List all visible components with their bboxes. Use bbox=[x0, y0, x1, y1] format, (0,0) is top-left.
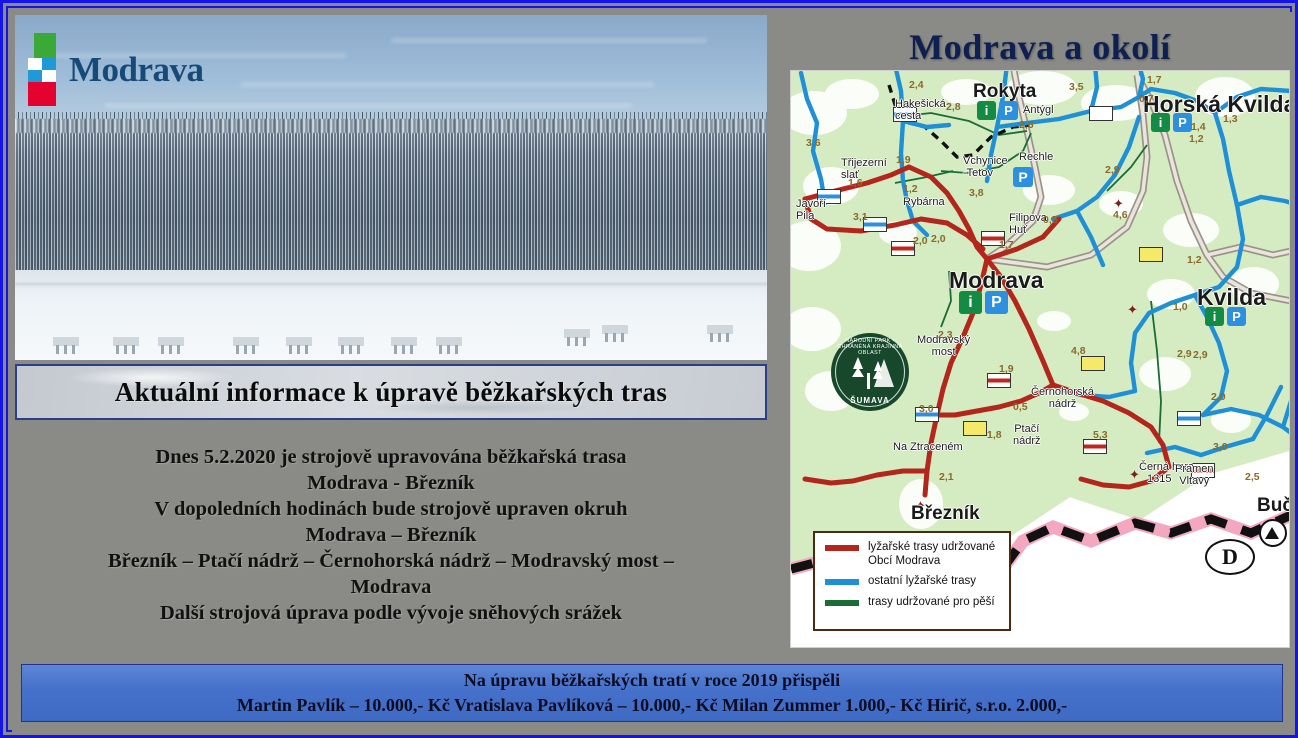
map-distance: 0,5 bbox=[1013, 401, 1028, 413]
announcement-line: Modrava bbox=[351, 574, 432, 600]
map-distance: 2,4 bbox=[909, 79, 924, 91]
map-distance: 1,7 bbox=[1147, 74, 1162, 86]
map-panel[interactable]: NÁRODNÍ PARK • CHRÁNĚNÁ KRAJINNÁ OBLAST … bbox=[790, 70, 1290, 648]
modrava-logo[interactable]: Modrava bbox=[28, 33, 204, 106]
map-distance: 2,0 bbox=[931, 233, 946, 245]
parking-icon[interactable]: P bbox=[1173, 113, 1192, 132]
map-distance: 3,5 bbox=[1069, 81, 1084, 93]
announcement-line: Modrava - Březník bbox=[307, 470, 474, 496]
map-distance: 3,0 bbox=[919, 403, 934, 415]
map-place-label: Rechle bbox=[1019, 151, 1053, 163]
map-distance: 2,8 bbox=[946, 101, 961, 113]
map-town-bucina[interactable]: Bučina bbox=[1257, 495, 1290, 517]
info-parking-horska-kvilda[interactable]: i P bbox=[1151, 113, 1192, 132]
map-distance: 1,2 bbox=[903, 183, 918, 195]
map-place-label: Pramen Vltavy bbox=[1175, 463, 1214, 487]
map-distance: 3,1 bbox=[853, 211, 868, 223]
map-distance: 2,0 bbox=[913, 235, 928, 247]
map-distance: 1,2 bbox=[1189, 133, 1204, 145]
announcement-line: Další strojová úprava podle vývoje sněho… bbox=[160, 600, 622, 626]
legend-row: trasy udržované pro pěší bbox=[825, 596, 1001, 610]
info-parking-rokyta[interactable]: i P bbox=[977, 101, 1018, 120]
map-distance: 1,8 bbox=[987, 429, 1002, 441]
map-place-label: Filipova Huť bbox=[1009, 212, 1047, 236]
parking-icon[interactable]: P bbox=[985, 291, 1008, 314]
logo-mark bbox=[28, 33, 56, 106]
km-sign bbox=[1083, 439, 1107, 454]
map-place-label: Na Ztraceném bbox=[893, 441, 963, 453]
peak-marker: ✦ bbox=[1127, 302, 1138, 318]
legend-row: lyžařské trasy udržované Obcí Modrava bbox=[825, 541, 1001, 568]
shelter-icon bbox=[1259, 519, 1287, 547]
km-sign bbox=[1177, 411, 1201, 426]
map-place-label: Antýgl bbox=[1023, 104, 1054, 116]
map-distance: 0,5 bbox=[1043, 214, 1058, 226]
poster-root: Modrava Aktuální informace k úpravě běžk… bbox=[0, 0, 1298, 738]
map-distance: 1,2 bbox=[1187, 254, 1202, 266]
map-place-label: Černohorská nádrž bbox=[1031, 386, 1094, 410]
map-title: Modrava a okolí bbox=[790, 24, 1290, 70]
map-distance: 1,9 bbox=[999, 363, 1014, 375]
legend-label: trasy udržované pro pěší bbox=[868, 596, 995, 610]
map-distance: 2,9 bbox=[1105, 164, 1120, 176]
sponsors-list: Martin Pavlík – 10.000,- Kč Vratislava P… bbox=[237, 693, 1067, 718]
info-icon[interactable]: i bbox=[977, 101, 996, 120]
sponsors-heading: Na úpravu běžkařských tratí v roce 2019 … bbox=[464, 668, 840, 693]
km-sign bbox=[963, 421, 987, 436]
announcement-line: Modrava – Březník bbox=[306, 522, 477, 548]
legend-row: ostatní lyžařské trasy bbox=[825, 575, 1001, 589]
map-distance: 0,7 bbox=[1139, 93, 1154, 105]
map-place-label: Rybárna bbox=[903, 196, 945, 208]
map-distance: 3,6 bbox=[806, 137, 821, 149]
km-sign bbox=[891, 241, 915, 256]
map-distance: 3,0 bbox=[1213, 441, 1228, 453]
map-distance: 1,4 bbox=[1191, 121, 1206, 133]
map-distance: 2,6 bbox=[1019, 119, 1034, 131]
legend-swatch-green bbox=[825, 600, 859, 606]
map-distance: 1,3 bbox=[1223, 113, 1238, 125]
map-place-label: Hakešická cesta bbox=[895, 98, 946, 122]
map-distance: 2,5 bbox=[1245, 471, 1260, 483]
map-distance: 1,9 bbox=[896, 154, 911, 166]
map-distance: 2,9 bbox=[1193, 349, 1208, 361]
parking-icon[interactable]: P bbox=[1227, 307, 1246, 326]
winter-landscape-photo: Modrava bbox=[15, 15, 767, 360]
announcement-line: Březník – Ptačí nádrž – Černohorská nádr… bbox=[108, 548, 674, 574]
poster-inner: Modrava Aktuální informace k úpravě běžk… bbox=[12, 12, 1292, 732]
km-sign bbox=[1089, 106, 1113, 121]
km-sign bbox=[987, 373, 1011, 388]
map-town-breznik[interactable]: Březník bbox=[911, 503, 980, 525]
info-icon[interactable]: i bbox=[1151, 113, 1170, 132]
map-distance: 3,8 bbox=[969, 187, 984, 199]
parking-icon[interactable]: P bbox=[999, 101, 1018, 120]
map-distance: 4,6 bbox=[1113, 209, 1128, 221]
map-distance: 1,6 bbox=[848, 177, 863, 189]
legend-swatch-red bbox=[825, 545, 859, 551]
logo-wordmark: Modrava bbox=[69, 50, 204, 90]
photo-snowfield bbox=[15, 270, 767, 360]
parking-icon-rechle[interactable]: P bbox=[1013, 167, 1033, 187]
map-distance: 2,9 bbox=[1177, 348, 1192, 360]
map-distance: 2,0 bbox=[1211, 391, 1226, 403]
sumava-national-park-logo: NÁRODNÍ PARK • CHRÁNĚNÁ KRAJINNÁ OBLAST … bbox=[831, 333, 909, 411]
map-distance: 1,0 bbox=[1173, 301, 1188, 313]
map-legend: lyžařské trasy udržované Obcí Modrava os… bbox=[813, 531, 1011, 631]
map-distance: 4,8 bbox=[1071, 345, 1086, 357]
info-icon[interactable]: i bbox=[959, 291, 982, 314]
map-place-label: Vchynice -Tetov bbox=[963, 155, 1008, 179]
info-parking-kvilda[interactable]: i P bbox=[1205, 307, 1246, 326]
map-place-label: Ptačí nádrž bbox=[1013, 423, 1041, 447]
map-title-text: Modrava a okolí bbox=[909, 26, 1171, 68]
sponsors-footer: Na úpravu běžkařských tratí v roce 2019 … bbox=[21, 664, 1283, 722]
country-marker-d: D bbox=[1205, 539, 1255, 575]
km-sign bbox=[1139, 247, 1163, 262]
km-sign bbox=[1081, 356, 1105, 371]
headline-banner: Aktuální informace k úpravě běžkařských … bbox=[15, 364, 767, 420]
info-parking-modrava[interactable]: i P bbox=[959, 291, 1008, 314]
map-distance: 2,1 bbox=[939, 471, 954, 483]
legend-label: lyžařské trasy udržované Obcí Modrava bbox=[868, 541, 995, 568]
legend-swatch-blue bbox=[825, 579, 859, 585]
legend-label: ostatní lyžařské trasy bbox=[868, 575, 976, 589]
info-icon[interactable]: i bbox=[1205, 307, 1224, 326]
map-town-rokyta[interactable]: Rokyta bbox=[973, 81, 1036, 103]
park-logo-name: ŠUMAVA bbox=[831, 396, 909, 405]
map-place-label: 1315 bbox=[1147, 473, 1171, 485]
announcement-text: Dnes 5.2.2020 je strojově upravována běž… bbox=[15, 430, 767, 645]
announcement-line: V dopoledních hodinách bude strojově upr… bbox=[154, 496, 627, 522]
headline-text: Aktuální informace k úpravě běžkařských … bbox=[115, 377, 667, 408]
announcement-line: Dnes 5.2.2020 je strojově upravována běž… bbox=[155, 444, 626, 470]
map-place-label: Javoří Pila bbox=[796, 198, 826, 222]
map-town-modrava[interactable]: Modrava bbox=[949, 267, 1044, 294]
map-distance: 1,7 bbox=[999, 239, 1014, 251]
map-distance: 2,3 bbox=[938, 329, 953, 341]
map-distance: 5,3 bbox=[1093, 429, 1108, 441]
